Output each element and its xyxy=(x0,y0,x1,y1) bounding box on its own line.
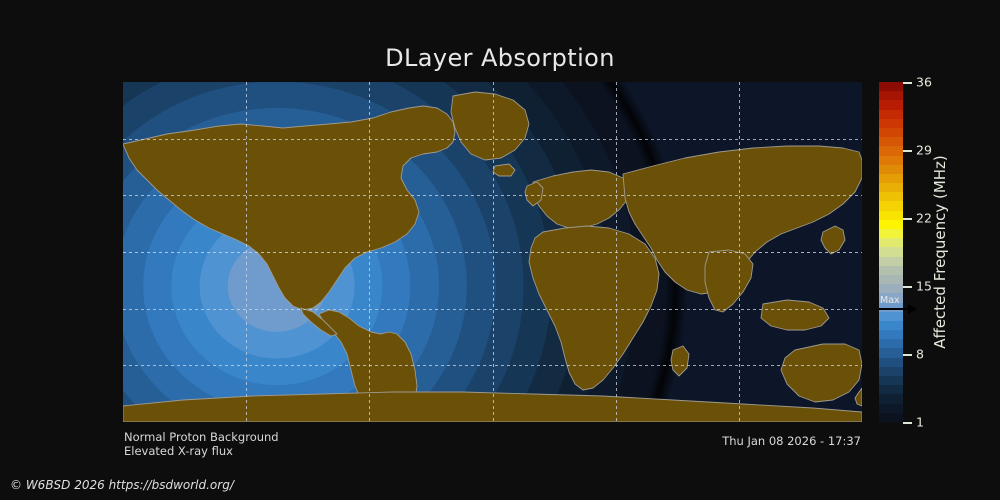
colorbar-band xyxy=(879,385,903,394)
colorbar-tick xyxy=(903,218,912,220)
colorbar-band xyxy=(879,91,903,100)
colorbar-band xyxy=(879,330,903,339)
greenland xyxy=(451,92,529,160)
australia xyxy=(781,344,862,402)
landmass-outlines xyxy=(123,82,862,422)
africa xyxy=(529,226,659,390)
colorbar-band xyxy=(879,348,903,357)
colorbar-gradient xyxy=(879,82,903,422)
europe xyxy=(533,170,629,228)
colorbar-band xyxy=(879,367,903,376)
antarctica xyxy=(123,392,862,422)
colorbar-band xyxy=(879,413,903,422)
colorbar-band xyxy=(879,211,903,220)
max-marker: Max xyxy=(879,296,925,318)
colorbar-tick xyxy=(903,82,912,84)
colorbar-axis-label: Affected Frequency (MHz) xyxy=(922,82,958,422)
colorbar-tick xyxy=(903,286,912,288)
max-arrow-icon xyxy=(879,308,909,310)
world-map[interactable] xyxy=(123,82,862,422)
xray-flux-status: Elevated X-ray flux xyxy=(124,444,233,458)
continents-svg xyxy=(123,82,862,422)
colorbar-band xyxy=(879,174,903,183)
colorbar-band xyxy=(879,119,903,128)
madagascar xyxy=(671,346,689,376)
copyright-footer: © W6BSD 2026 https://bsdworld.org/ xyxy=(10,478,234,492)
colorbar-band xyxy=(879,376,903,385)
colorbar-band xyxy=(879,284,903,293)
colorbar-band xyxy=(879,238,903,247)
india xyxy=(705,250,753,312)
new-zealand xyxy=(855,388,862,406)
absorption-map-page: DLayer Absorption xyxy=(0,0,1000,500)
colorbar-band xyxy=(879,220,903,229)
colorbar-band xyxy=(879,137,903,146)
colorbar-band xyxy=(879,128,903,137)
colorbar-band xyxy=(879,266,903,275)
colorbar[interactable] xyxy=(879,82,903,422)
japan xyxy=(821,226,845,254)
colorbar-band xyxy=(879,110,903,119)
colorbar-band xyxy=(879,201,903,210)
colorbar-band xyxy=(879,339,903,348)
colorbar-band xyxy=(879,358,903,367)
colorbar-band xyxy=(879,321,903,330)
iceland xyxy=(493,164,515,176)
max-marker-label: Max xyxy=(880,295,900,306)
colorbar-axis-label-text: Affected Frequency (MHz) xyxy=(931,155,949,349)
colorbar-band xyxy=(879,82,903,91)
colorbar-band xyxy=(879,275,903,284)
colorbar-band xyxy=(879,100,903,109)
page-title: DLayer Absorption xyxy=(0,44,1000,72)
proton-background-status: Normal Proton Background xyxy=(124,430,279,444)
indonesia xyxy=(761,300,829,330)
colorbar-band xyxy=(879,156,903,165)
colorbar-band xyxy=(879,257,903,266)
colorbar-band xyxy=(879,247,903,256)
north-america xyxy=(123,106,455,310)
colorbar-band xyxy=(879,404,903,413)
colorbar-band xyxy=(879,229,903,238)
colorbar-band xyxy=(879,165,903,174)
colorbar-band xyxy=(879,183,903,192)
colorbar-band xyxy=(879,146,903,155)
colorbar-tick xyxy=(903,150,912,152)
colorbar-band xyxy=(879,192,903,201)
timestamp-label: Thu Jan 08 2026 - 17:37 xyxy=(722,434,861,448)
colorbar-band xyxy=(879,394,903,403)
colorbar-tick xyxy=(903,422,912,424)
colorbar-tick xyxy=(903,354,912,356)
